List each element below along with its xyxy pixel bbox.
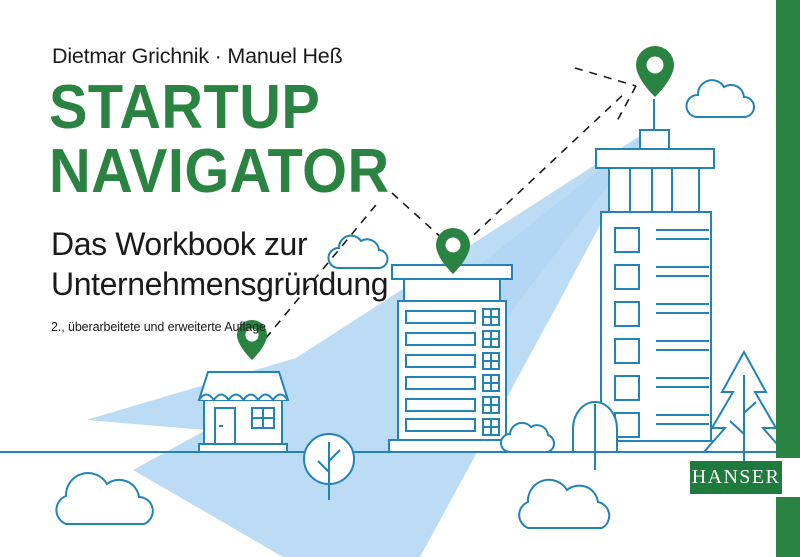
cloud-mid-right <box>501 423 554 452</box>
cloud-top-right <box>686 80 754 117</box>
subtitle-line-1: Das Workbook zur <box>51 224 471 264</box>
cloud-bottom-left <box>56 473 152 524</box>
cloud-bottom-center <box>519 480 609 528</box>
pine-tree <box>704 352 784 468</box>
book-title: STARTUP NAVIGATOR <box>49 76 509 204</box>
authors-line: Dietmar Grichnik · Manuel Heß <box>52 44 343 69</box>
title-line-2: NAVIGATOR <box>49 140 477 204</box>
publisher-logo: HANSER <box>690 461 782 494</box>
shop-building <box>199 372 288 452</box>
edition-note: 2., überarbeitete und erweiterte Auflage <box>51 320 266 334</box>
pin-destination-top-right <box>636 46 674 97</box>
book-subtitle: Das Workbook zur Unternehmensgründung <box>51 224 471 304</box>
tall-tower <box>592 99 720 452</box>
publisher-name: HANSER <box>692 466 780 489</box>
book-cover: Dietmar Grichnik · Manuel Heß STARTUP NA… <box>0 0 800 557</box>
subtitle-line-2: Unternehmensgründung <box>51 264 471 304</box>
title-line-1: STARTUP <box>49 76 477 140</box>
round-tree-right <box>573 402 617 470</box>
